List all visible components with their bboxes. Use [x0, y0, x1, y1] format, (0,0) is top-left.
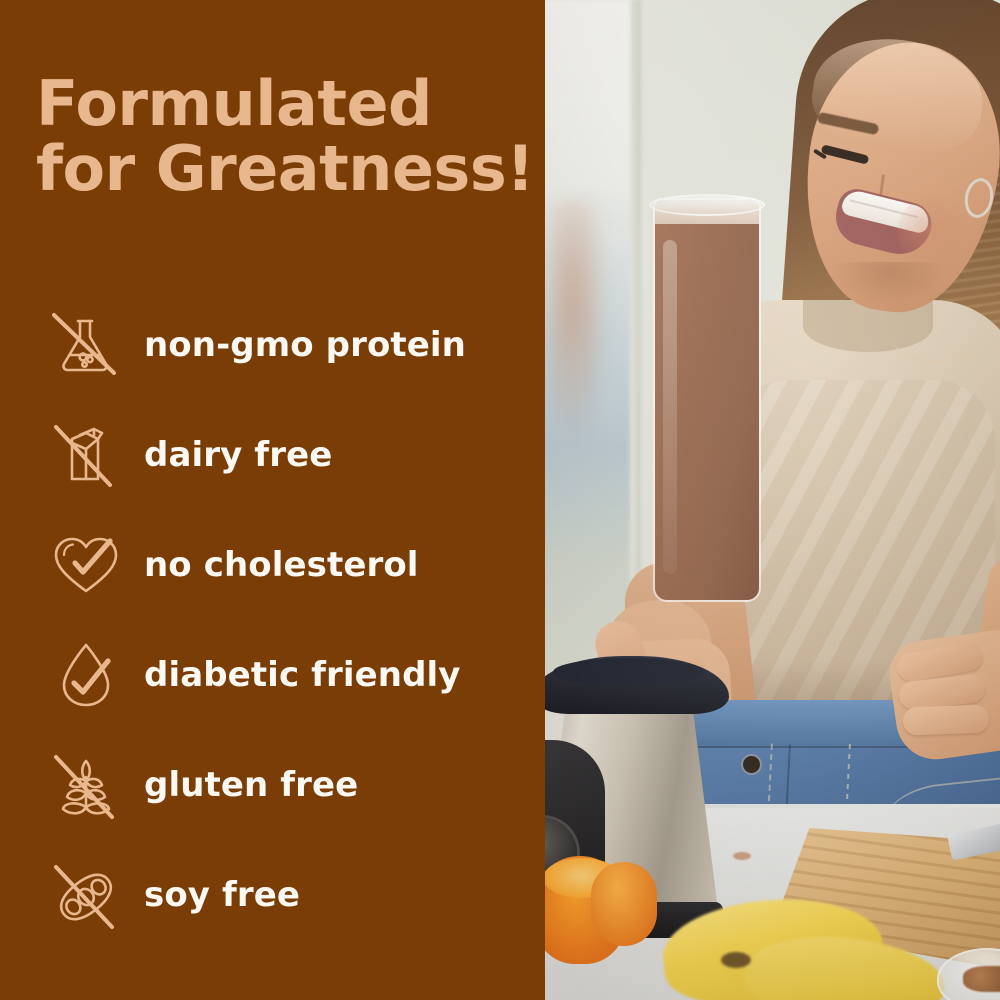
list-item: diabetic friendly [0, 620, 545, 730]
nuts-in-bowl [963, 966, 1000, 992]
heart-check-no-cholesterol-icon [48, 519, 136, 611]
benefits-panel: Formulated for Greatness! non [0, 0, 545, 1000]
headline-line-1: Formulated [36, 72, 536, 135]
wheat-gluten-free-icon [48, 739, 136, 831]
jeans-button [743, 756, 760, 773]
list-item: dairy free [0, 400, 545, 510]
orange-half [591, 862, 657, 946]
list-item-label: no cholesterol [144, 545, 419, 585]
list-item: non-gmo protein [0, 290, 545, 400]
list-item-label: diabetic friendly [144, 655, 461, 695]
window [545, 0, 631, 700]
flask-no-gmo-icon [48, 299, 136, 391]
list-item-label: gluten free [144, 765, 358, 805]
list-item-label: non-gmo protein [144, 325, 466, 365]
counter-crumb [733, 852, 751, 860]
lifestyle-photo [545, 0, 1000, 1000]
kitchen-scene [545, 0, 1000, 1000]
list-item-label: soy free [144, 875, 300, 915]
cheek [897, 196, 971, 268]
blender-lid-top [553, 658, 705, 686]
benefits-list: non-gmo protein dairy free [0, 290, 545, 950]
milk-carton-dairy-free-icon [48, 409, 136, 501]
glass-rim [649, 194, 765, 216]
blood-drop-check-diabetic-friendly-icon [48, 629, 136, 721]
page-title: Formulated for Greatness! [36, 72, 536, 200]
list-item: soy free [0, 840, 545, 950]
finger [903, 705, 990, 736]
banana-tip [721, 952, 751, 968]
list-item: gluten free [0, 730, 545, 840]
soybean-soy-free-icon [48, 849, 136, 941]
headline-line-2: for Greatness! [36, 137, 536, 200]
glass-of-chocolate-shake [653, 198, 761, 602]
glass-highlight [663, 240, 677, 574]
chin-shadow [835, 262, 945, 304]
list-item: no cholesterol [0, 510, 545, 620]
product-benefits-poster: Formulated for Greatness! non [0, 0, 1000, 1000]
list-item-label: dairy free [144, 435, 332, 475]
